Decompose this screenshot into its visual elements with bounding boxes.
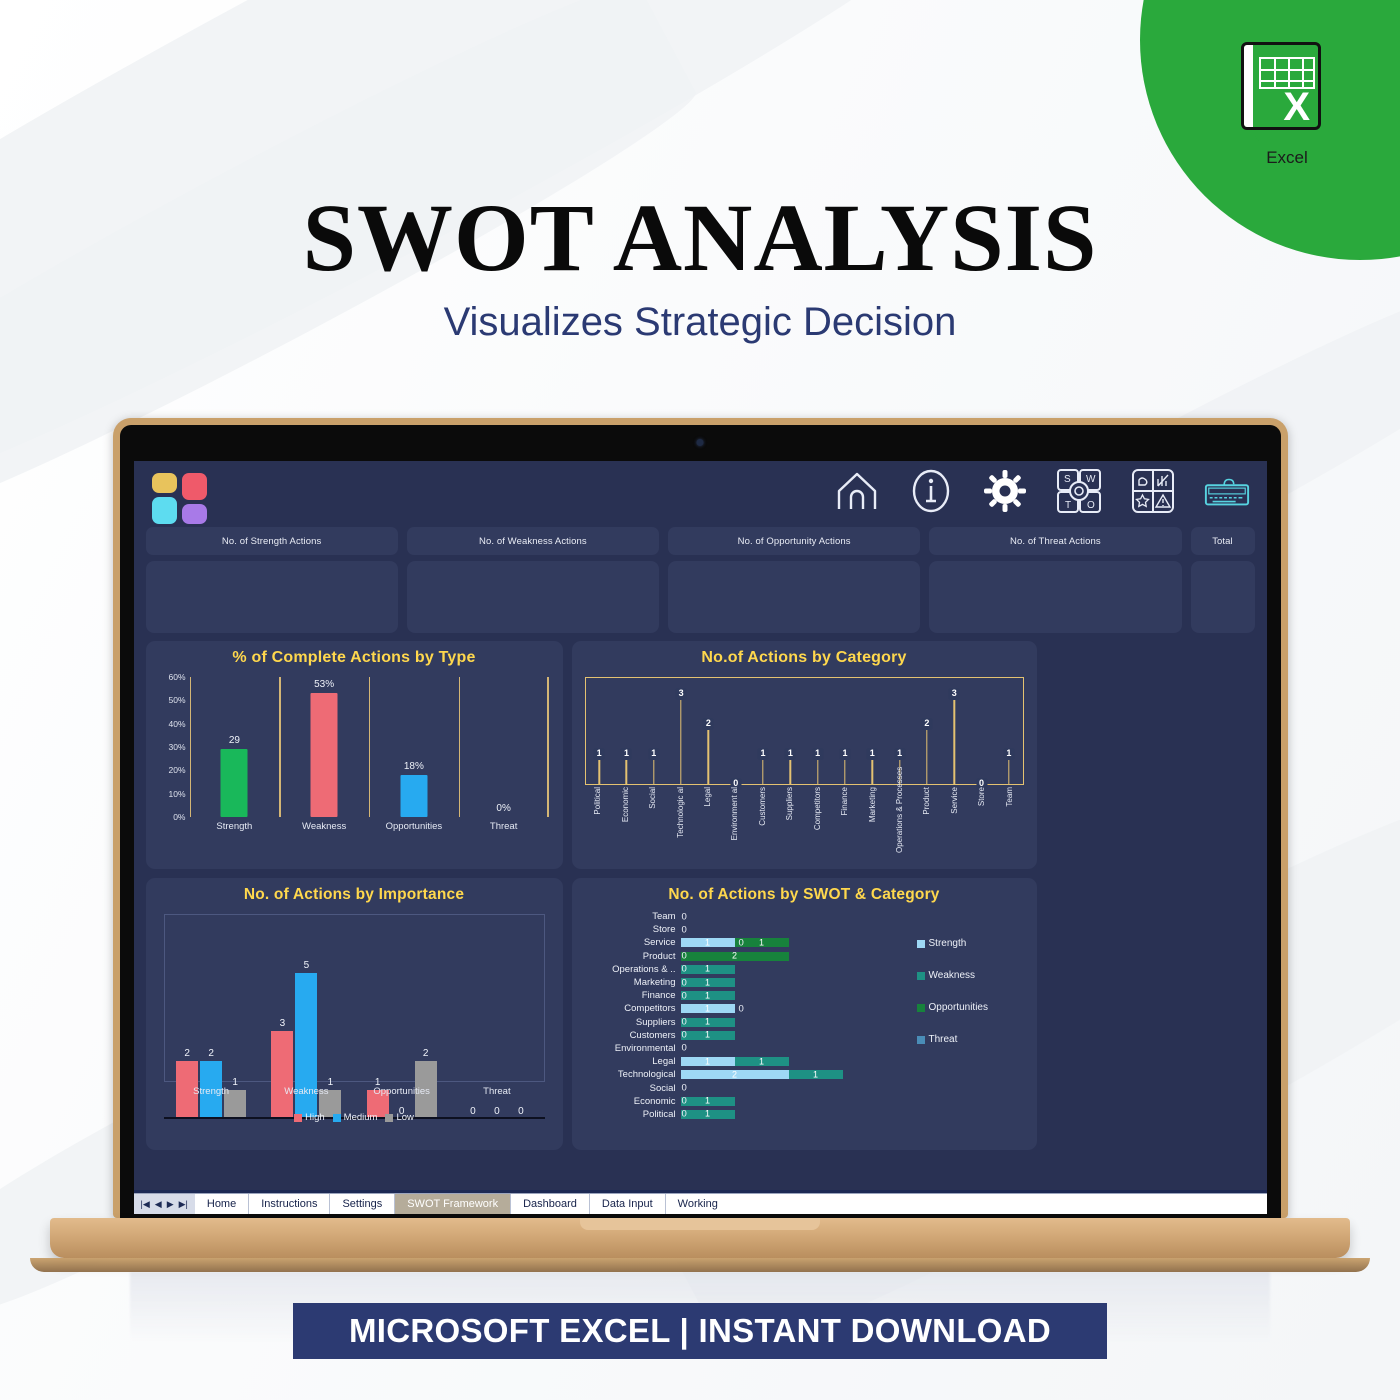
bar-track: 10 <box>681 991 916 1000</box>
info-icon[interactable] <box>907 467 955 515</box>
row-label: Competitors <box>586 1003 681 1014</box>
legend-item: Medium <box>333 1112 378 1123</box>
row-label: Marketing <box>586 977 681 988</box>
logo-square-cyan <box>152 497 177 524</box>
bar-track: 0 <box>681 912 916 921</box>
table-row: Marketing10 <box>586 976 916 989</box>
excel-icon-card: X <box>1241 42 1321 130</box>
x-tick-label: Threat <box>490 821 517 832</box>
chart-card-swot-and-category: No. of Actions by SWOT & Category Team0S… <box>572 878 1037 1150</box>
webcam-icon <box>697 439 704 446</box>
x-tick-label: Customers <box>759 787 767 853</box>
sheet-tab-dashboard[interactable]: Dashboard <box>510 1194 589 1214</box>
zero-label: 0 <box>682 1109 687 1120</box>
excel-file-icon: X <box>1241 42 1333 142</box>
chart-legend: HighMediumLow <box>164 1112 545 1123</box>
sheet-tab-settings[interactable]: Settings <box>329 1194 394 1214</box>
row-label: Technological <box>586 1069 681 1080</box>
bar-track: 20 <box>681 952 916 961</box>
dashboard-charts: % of Complete Actions by Type 0%10%20%30… <box>134 633 1267 1150</box>
bar-value-label: 53% <box>314 679 334 690</box>
chart-column: 29Strength <box>190 677 280 817</box>
kpi-value <box>929 561 1181 633</box>
kpi-card: No. of Threat Actions <box>929 527 1181 633</box>
sheet-tab-instructions[interactable]: Instructions <box>248 1194 329 1214</box>
bar-segment: 1 <box>681 978 735 987</box>
bar-value-label: 0% <box>496 803 510 814</box>
sheet-tabs: HomeInstructionsSettingsSWOT FrameworkDa… <box>195 1194 730 1214</box>
x-tick-label: Legal <box>704 787 712 853</box>
legend-item: Strength <box>917 938 1021 949</box>
segment-value-label: 1 <box>813 1070 818 1079</box>
sheet-nav-arrow[interactable]: ▶| <box>179 1199 188 1210</box>
zero-label: 0 <box>682 924 687 935</box>
kpi-value <box>146 561 398 633</box>
sheet-tab-working[interactable]: Working <box>665 1194 730 1214</box>
bar-value-label: 2 <box>208 1048 214 1059</box>
legend-swatch <box>917 1036 925 1044</box>
sheet-tab-swot-framework[interactable]: SWOT Framework <box>394 1194 510 1214</box>
x-tick-label: Economic <box>621 787 629 853</box>
toolbar-icon-group: S W T O <box>833 467 1251 515</box>
app-toolbar: S W T O <box>134 461 1267 525</box>
sheet-tab-bar: |◀◀▶▶| HomeInstructionsSettingsSWOT Fram… <box>134 1193 1267 1214</box>
home-icon[interactable] <box>833 467 881 515</box>
row-label: Operations & .. <box>586 964 681 975</box>
sheet-nav-arrow[interactable]: ◀ <box>155 1199 162 1210</box>
plot-frame: 1113201111112301 <box>585 677 1024 785</box>
bar-value-label: 2 <box>423 1048 429 1059</box>
bar-track: 11 <box>681 1057 916 1066</box>
bar <box>400 775 427 817</box>
kpi-label: No. of Opportunity Actions <box>668 527 920 555</box>
data-point-label: 2 <box>921 718 932 730</box>
zero-label: 0 <box>682 951 687 962</box>
row-label: Social <box>586 1083 681 1094</box>
kpi-label: No. of Strength Actions <box>146 527 398 555</box>
footer-banner: MICROSOFT EXCEL | INSTANT DOWNLOAD <box>293 1303 1107 1359</box>
laptop-base-top <box>50 1218 1350 1258</box>
x-axis-labels: PoliticalEconomicSocialTechnologic alLeg… <box>585 787 1024 855</box>
excel-badge-label: Excel <box>1232 148 1342 168</box>
bar-track: 21 <box>681 1070 916 1079</box>
laptop-lid: S W T O <box>113 418 1288 1218</box>
y-tick: 30% <box>168 742 185 752</box>
table-row: Finance10 <box>586 989 916 1002</box>
y-tick: 40% <box>168 719 185 729</box>
axis-tick <box>279 677 280 817</box>
chart-column: 18%Opportunities <box>369 677 459 817</box>
segment-value-label: 1 <box>705 991 710 1000</box>
legend-item: Threat <box>917 1034 1021 1045</box>
bar-track: 10 <box>681 1004 916 1013</box>
laptop-notch <box>580 1218 820 1230</box>
chart-plot-area: 221351102000 HighMediumLow StrengthWeakn… <box>164 914 545 1119</box>
segment-value-label: 1 <box>705 1110 710 1119</box>
bar-value-label: 3 <box>280 1018 286 1029</box>
bar-track: 0 <box>681 1084 916 1093</box>
row-label: Service <box>586 937 681 948</box>
x-tick-label: Operations & Processes <box>896 787 904 853</box>
x-tick-label: Team <box>1006 787 1014 853</box>
stacked-bar-rows: Team0Store0Service110Product20Operations… <box>586 910 916 1121</box>
data-point-label: 1 <box>812 748 823 760</box>
table-row: Economic10 <box>586 1095 916 1108</box>
table-row: Suppliers10 <box>586 1016 916 1029</box>
table-row: Service110 <box>586 936 916 949</box>
data-point-label: 2 <box>703 718 714 730</box>
app-screen: S W T O <box>134 461 1267 1214</box>
line-series: 1113201111112301 <box>586 678 1023 784</box>
chart-card-complete-by-type: % of Complete Actions by Type 0%10%20%30… <box>146 641 563 869</box>
row-label: Legal <box>586 1056 681 1067</box>
bar-track: 10 <box>681 1018 916 1027</box>
bar: 5 <box>295 973 317 1119</box>
row-label: Political <box>586 1109 681 1120</box>
segment-value-label: 1 <box>705 1097 710 1106</box>
chart-title: No. of Actions by SWOT & Category <box>582 886 1027 904</box>
legend-label: Threat <box>929 1034 958 1045</box>
x-tick-label: Suppliers <box>786 787 794 853</box>
data-stem <box>680 694 681 784</box>
data-point-label: 1 <box>867 748 878 760</box>
page-title: SWOT ANALYSIS <box>0 182 1400 293</box>
x-tick-label: Marketing <box>868 787 876 853</box>
kpi-card: No. of Opportunity Actions <box>668 527 920 633</box>
bar-segment: 1 <box>681 1018 735 1027</box>
zero-label: 0 <box>682 1043 687 1054</box>
y-tick: 0% <box>173 812 185 822</box>
bar-track: 10 <box>681 1110 916 1119</box>
legend-item: Weakness <box>917 970 1021 981</box>
legend-label: Low <box>396 1112 413 1123</box>
chart-card-actions-by-category: No.of Actions by Category 11132011111123… <box>572 641 1037 869</box>
table-row: Operations & ..10 <box>586 963 916 976</box>
x-tick-label: Strength <box>216 821 252 832</box>
bar-segment: 1 <box>681 1057 735 1066</box>
svg-text:W: W <box>1086 474 1096 485</box>
legend-swatch <box>917 1004 925 1012</box>
axis-tick <box>190 677 191 817</box>
sheet-nav-arrow[interactable]: |◀ <box>141 1199 150 1210</box>
bar-segment: 1 <box>681 938 735 947</box>
row-label: Product <box>586 951 681 962</box>
segment-value-label: 1 <box>705 938 710 947</box>
x-tick-label: Strength <box>193 1086 229 1097</box>
x-tick-label: Service <box>951 787 959 853</box>
legend-label: Weakness <box>929 970 976 981</box>
bar-segment: 1 <box>681 1110 735 1119</box>
segment-value-label: 2 <box>732 1070 737 1079</box>
x-tick-label: Environment al <box>731 787 739 853</box>
chart-card-actions-by-importance: No. of Actions by Importance 22135110200… <box>146 878 563 1150</box>
kpi-card: No. of Weakness Actions <box>407 527 659 633</box>
y-tick: 10% <box>168 789 185 799</box>
kpi-card: No. of Strength Actions <box>146 527 398 633</box>
bar-track: 10 <box>681 1031 916 1040</box>
y-tick: 20% <box>168 765 185 775</box>
x-tick-label: Finance <box>841 787 849 853</box>
segment-value-label: 1 <box>705 965 710 974</box>
zero-label: 0 <box>682 964 687 975</box>
laptop-base <box>100 1218 1300 1272</box>
x-tick-label: Weakness <box>284 1086 328 1097</box>
logo-square-yellow <box>152 473 177 493</box>
bar-segment: 1 <box>681 965 735 974</box>
excel-icon-spine <box>1244 45 1253 127</box>
zero-label: 0 <box>682 1030 687 1041</box>
legend-item: Low <box>385 1112 413 1123</box>
chart-column: 53%Weakness <box>279 677 369 817</box>
x-tick-label: Social <box>649 787 657 853</box>
settings-gear-icon[interactable] <box>981 467 1029 515</box>
data-point-label: 1 <box>758 748 769 760</box>
data-point-label: 1 <box>621 748 632 760</box>
zero-label: 0 <box>739 937 744 948</box>
axis-tick <box>369 677 370 817</box>
bar-segment: 1 <box>681 1004 735 1013</box>
row-label: Finance <box>586 990 681 1001</box>
table-row: Product20 <box>586 950 916 963</box>
table-row: Team0 <box>586 910 916 923</box>
bar-value-label: 2 <box>184 1048 190 1059</box>
chart-bars: 29Strength53%Weakness18%Opportunities0%T… <box>190 677 549 817</box>
bar-segment: 2 <box>681 1070 789 1079</box>
data-stem <box>708 724 709 784</box>
bar-segment: 1 <box>735 1057 789 1066</box>
x-tick-label: Competitors <box>814 787 822 853</box>
sheet-tab-home[interactable]: Home <box>195 1194 248 1214</box>
zero-label: 0 <box>682 1083 687 1094</box>
zero-label: 0 <box>682 911 687 922</box>
bar-value-label: 5 <box>304 960 310 971</box>
sheet-nav-arrows[interactable]: |◀◀▶▶| <box>134 1194 195 1214</box>
table-row: Competitors10 <box>586 1002 916 1015</box>
zero-label: 0 <box>682 977 687 988</box>
row-label: Team <box>586 911 681 922</box>
legend-swatch <box>385 1114 393 1122</box>
x-tick-label: Threat <box>483 1086 510 1097</box>
kpi-label: No. of Weakness Actions <box>407 527 659 555</box>
data-point-label: 3 <box>676 688 687 700</box>
chart-plot-area: 0%10%20%30%40%50%60% 29Strength53%Weakne… <box>156 677 549 832</box>
zero-label: 0 <box>682 1096 687 1107</box>
legend-label: Strength <box>929 938 967 949</box>
bar-track: 10 <box>681 1097 916 1106</box>
axis-tick <box>459 677 460 817</box>
table-row: Political10 <box>586 1108 916 1121</box>
data-point-label: 1 <box>1003 748 1014 760</box>
bar-track: 0 <box>681 925 916 934</box>
segment-value-label: 1 <box>705 1004 710 1013</box>
row-label: Suppliers <box>586 1017 681 1028</box>
legend-swatch <box>917 972 925 980</box>
excel-x-letter: X <box>1283 87 1310 127</box>
kpi-row: No. of Strength ActionsNo. of Weakness A… <box>134 527 1267 633</box>
table-row: Technological21 <box>586 1068 916 1081</box>
x-tick-label: Technologic al <box>676 787 684 853</box>
zero-label: 0 <box>682 990 687 1001</box>
segment-value-label: 1 <box>705 1018 710 1027</box>
kpi-label: No. of Threat Actions <box>929 527 1181 555</box>
bar-track: 10 <box>681 978 916 987</box>
data-point-label: 1 <box>785 748 796 760</box>
legend-swatch <box>333 1114 341 1122</box>
segment-value-label: 1 <box>705 1057 710 1066</box>
chart-plot-area: Team0Store0Service110Product20Operations… <box>586 910 1023 1138</box>
legend-label: High <box>305 1112 325 1123</box>
footer-text: MICROSOFT EXCEL | INSTANT DOWNLOAD <box>349 1312 1051 1350</box>
legend-item: High <box>294 1112 325 1123</box>
chart-title: % of Complete Actions by Type <box>156 649 553 667</box>
segment-value-label: 1 <box>759 938 764 947</box>
segment-value-label: 1 <box>759 1057 764 1066</box>
x-tick-label: Opportunities <box>373 1086 430 1097</box>
laptop-base-lip <box>30 1258 1370 1272</box>
segment-value-label: 1 <box>705 1031 710 1040</box>
bar-segment: 1 <box>681 1031 735 1040</box>
x-tick-label: Political <box>594 787 602 853</box>
legend-item: Opportunities <box>917 1002 1021 1013</box>
data-point-label: 1 <box>839 748 850 760</box>
table-row: Social0 <box>586 1081 916 1094</box>
legend-swatch <box>294 1114 302 1122</box>
bar-segment: 1 <box>681 991 735 1000</box>
legend-swatch <box>917 940 925 948</box>
chart-legend: StrengthWeaknessOpportunitiesThreat <box>917 938 1021 1066</box>
sheet-tab-data-input[interactable]: Data Input <box>589 1194 665 1214</box>
page-subtitle: Visualizes Strategic Decision <box>0 300 1400 345</box>
chart-title: No.of Actions by Category <box>582 649 1027 667</box>
swot-quadrant-icon[interactable] <box>1129 467 1177 515</box>
chart-title: No. of Actions by Importance <box>156 886 553 904</box>
svg-text:O: O <box>1087 500 1095 511</box>
chart-column: 0%Threat <box>459 677 549 817</box>
table-row: Store0 <box>586 923 916 936</box>
sheet-tab-filler <box>730 1194 1267 1214</box>
kpi-label: Total <box>1191 527 1255 555</box>
kpi-card: Total <box>1191 527 1255 633</box>
chart-plot-area: 1113201111112301 PoliticalEconomicSocial… <box>585 677 1024 857</box>
logo-square-red <box>182 473 207 500</box>
x-tick-label: Opportunities <box>386 821 443 832</box>
table-row: Customers10 <box>586 1029 916 1042</box>
bar <box>311 693 338 817</box>
bar-segment: 1 <box>681 1097 735 1106</box>
swot-grid-icon[interactable]: S W T O <box>1055 467 1103 515</box>
bar-value-label: 1 <box>232 1077 238 1088</box>
table-row: Environmental0 <box>586 1042 916 1055</box>
row-label: Customers <box>586 1030 681 1041</box>
excel-badge: X Excel <box>1232 42 1342 168</box>
logo-square-purple <box>182 504 207 524</box>
laptop-mockup: S W T O <box>100 418 1300 1272</box>
bar-track: 10 <box>681 965 916 974</box>
data-stem <box>926 724 927 784</box>
bar-track: 0 <box>681 1044 916 1053</box>
svg-text:T: T <box>1065 500 1071 511</box>
y-axis-labels: 0%10%20%30%40%50%60% <box>156 677 186 817</box>
table-row: Legal11 <box>586 1055 916 1068</box>
kpi-value <box>407 561 659 633</box>
x-tick-label: Product <box>923 787 931 853</box>
bar-segment: 1 <box>789 1070 843 1079</box>
bar-segment: 2 <box>681 952 789 961</box>
row-label: Store <box>586 924 681 935</box>
bar <box>221 749 248 817</box>
bar-track: 110 <box>681 938 916 947</box>
data-stem <box>954 694 955 784</box>
data-point-label: 1 <box>648 748 659 760</box>
segment-value-label: 1 <box>705 978 710 987</box>
sheet-nav-arrow[interactable]: ▶ <box>167 1199 174 1210</box>
row-label: Economic <box>586 1096 681 1107</box>
bar-value-label: 29 <box>229 735 240 746</box>
segment-value-label: 2 <box>732 952 737 961</box>
y-tick: 50% <box>168 695 185 705</box>
zero-label: 0 <box>682 1017 687 1028</box>
y-tick: 60% <box>168 672 185 682</box>
four-squares-logo[interactable] <box>152 473 210 521</box>
kpi-value <box>1191 561 1255 633</box>
x-tick-label: Weakness <box>302 821 346 832</box>
svg-text:S: S <box>1064 474 1071 485</box>
legend-label: Opportunities <box>929 1002 988 1013</box>
kpi-value <box>668 561 920 633</box>
data-point-label: 1 <box>594 748 605 760</box>
bar-value-label: 18% <box>404 761 424 772</box>
legend-label: Medium <box>344 1112 378 1123</box>
keyboard-icon[interactable] <box>1203 467 1251 515</box>
row-label: Environmental <box>586 1043 681 1054</box>
bar: 3 <box>271 1031 293 1119</box>
data-point-label: 1 <box>894 748 905 760</box>
x-tick-label: Store <box>978 787 986 853</box>
zero-label: 0 <box>739 1003 744 1014</box>
data-point-label: 3 <box>949 688 960 700</box>
